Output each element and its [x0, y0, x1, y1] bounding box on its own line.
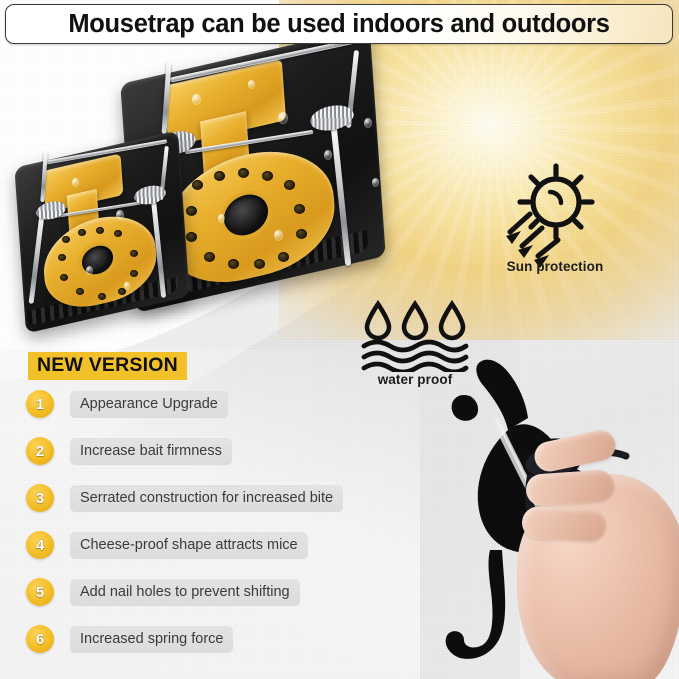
trap-hole — [76, 288, 84, 295]
list-item-label: Cheese-proof shape attracts mice — [70, 532, 308, 559]
trap-hole — [254, 259, 265, 269]
list-item: 2 Increase bait firmness — [26, 435, 446, 467]
product-photo — [18, 48, 386, 338]
list-item-label: Increase bait firmness — [70, 438, 232, 465]
list-item-number: 5 — [26, 578, 54, 606]
water-droplet — [86, 266, 93, 275]
list-item-number: 2 — [26, 437, 54, 465]
trap-hole — [262, 171, 273, 181]
page-title-box: Mousetrap can be used indoors and outdoo… — [5, 4, 673, 44]
water-droplet — [192, 94, 201, 105]
trap-hole — [238, 168, 249, 178]
trap-hole — [60, 274, 68, 281]
list-item-number: 4 — [26, 531, 54, 559]
list-item-label: Add nail holes to prevent shifting — [70, 579, 300, 606]
trap-hole — [186, 232, 197, 242]
trap-hole — [114, 230, 122, 237]
water-droplet — [116, 210, 124, 220]
list-item-label: Appearance Upgrade — [70, 391, 228, 418]
water-droplet — [218, 214, 225, 223]
feature-list: 1 Appearance Upgrade 2 Increase bait fir… — [26, 388, 446, 670]
trap-hole — [96, 227, 104, 234]
sun-protection-caption: Sun protection — [470, 259, 640, 274]
list-item-number: 3 — [26, 484, 54, 512]
trap-hole — [98, 293, 106, 300]
trap-hole — [284, 180, 295, 190]
trap-hole — [62, 236, 70, 243]
trap-hole — [228, 259, 239, 269]
list-item: 5 Add nail holes to prevent shifting — [26, 576, 446, 608]
water-droplet — [372, 178, 379, 187]
caught-mouse-scene — [430, 352, 679, 679]
water-droplet — [364, 118, 372, 128]
list-item-label: Increased spring force — [70, 626, 233, 653]
trap-hole — [186, 206, 197, 216]
sun-protection-icon — [484, 158, 610, 270]
list-item: 3 Serrated construction for increased bi… — [26, 482, 446, 514]
list-item: 4 Cheese-proof shape attracts mice — [26, 529, 446, 561]
list-item: 1 Appearance Upgrade — [26, 388, 446, 420]
water-droplet — [274, 230, 283, 241]
list-item-number: 6 — [26, 625, 54, 653]
water-droplet — [124, 282, 130, 290]
trap-hole — [214, 171, 225, 181]
trap-hole — [78, 229, 86, 236]
water-droplet — [278, 112, 288, 124]
mousetrap-small — [20, 148, 184, 316]
product-infographic: Mousetrap can be used indoors and outdoo… — [0, 0, 679, 679]
list-item: 6 Increased spring force — [26, 623, 446, 655]
trap-hole — [192, 180, 203, 190]
list-item-number: 1 — [26, 390, 54, 418]
trap-hole — [58, 254, 66, 261]
water-droplet — [72, 178, 79, 187]
trap-hole — [204, 252, 215, 262]
new-version-label: NEW VERSION — [37, 354, 178, 376]
trap-hole — [130, 250, 138, 257]
page-title: Mousetrap can be used indoors and outdoo… — [68, 10, 609, 39]
trap-hole — [296, 229, 307, 239]
trap-hole — [130, 270, 138, 277]
water-drops — [367, 304, 463, 338]
ring-finger — [521, 506, 607, 542]
new-version-badge: NEW VERSION — [28, 352, 187, 380]
middle-finger — [525, 469, 615, 507]
trap-hole — [278, 252, 289, 262]
trap-hole — [294, 204, 305, 214]
list-item-label: Serrated construction for increased bite — [70, 485, 343, 512]
water-droplet — [248, 80, 255, 89]
water-droplet — [324, 150, 332, 160]
